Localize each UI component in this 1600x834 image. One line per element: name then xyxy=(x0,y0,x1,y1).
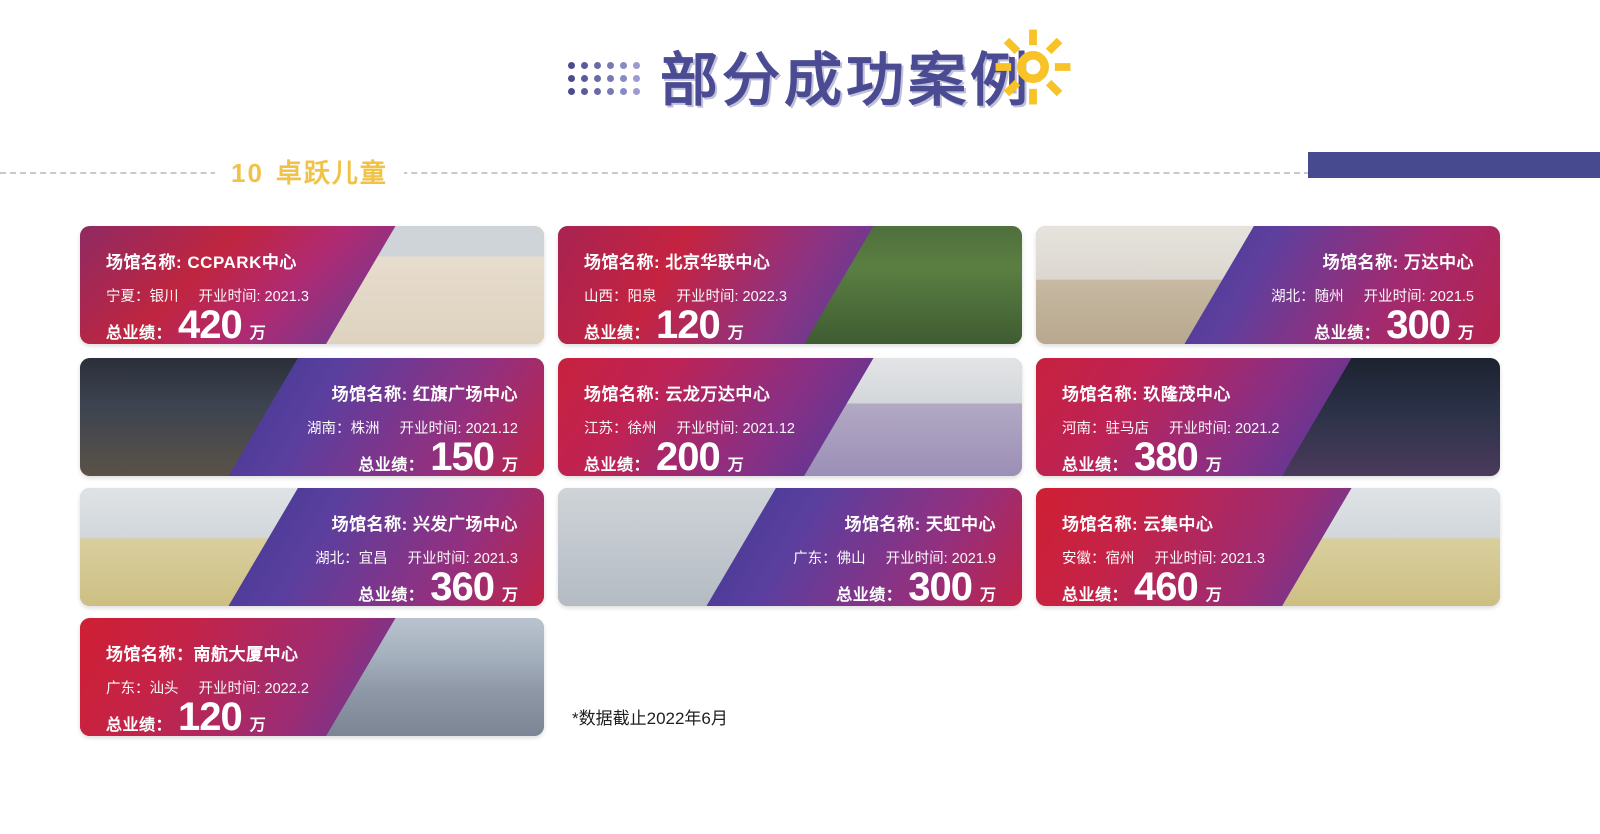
venue-location: 河南：驻马店 xyxy=(1062,421,1149,437)
venue-location: 宁夏：银川 xyxy=(106,289,179,305)
venue-location: 湖北：宜昌 xyxy=(315,551,388,567)
performance-label: 总业绩： xyxy=(106,319,172,343)
venue-open-date: 开业时间: 2021.3 xyxy=(199,289,309,305)
venue-name: 场馆名称: CCPARK中心 xyxy=(106,248,297,273)
performance-value: 200 xyxy=(656,438,720,476)
performance-unit: 万 xyxy=(250,319,266,343)
venue-meta: 湖北：宜昌开业时间: 2021.3 xyxy=(315,547,518,568)
performance-label: 总业绩： xyxy=(358,451,424,475)
performance-row: 总业绩： 120 万 xyxy=(584,306,744,344)
venue-location: 广东：汕头 xyxy=(106,681,179,697)
performance-value: 360 xyxy=(430,568,494,606)
venue-open-date: 开业时间: 2021.12 xyxy=(677,421,795,437)
performance-row: 总业绩： 380 万 xyxy=(1062,438,1222,476)
venue-open-date: 开业时间: 2022.2 xyxy=(199,681,309,697)
performance-unit: 万 xyxy=(250,711,266,735)
performance-value: 380 xyxy=(1134,438,1198,476)
venue-open-date: 开业时间: 2022.3 xyxy=(677,289,787,305)
venue-location: 安徽：宿州 xyxy=(1062,551,1135,567)
venue-meta: 湖南：株洲开业时间: 2021.12 xyxy=(307,417,518,438)
performance-value: 120 xyxy=(656,306,720,344)
case-card[interactable]: 场馆名称: 北京华联中心 山西：阳泉开业时间: 2022.3 总业绩： 120 … xyxy=(558,226,1022,344)
performance-row: 总业绩： 460 万 xyxy=(1062,568,1222,606)
performance-label: 总业绩： xyxy=(1062,581,1128,605)
performance-row: 总业绩： 420 万 xyxy=(106,306,266,344)
venue-location: 湖北：随州 xyxy=(1271,289,1344,305)
venue-location: 湖南：株洲 xyxy=(307,421,380,437)
venue-meta: 河南：驻马店开业时间: 2021.2 xyxy=(1062,417,1279,438)
venue-open-date: 开业时间: 2021.5 xyxy=(1364,289,1474,305)
venue-name: 场馆名称: 天虹中心 xyxy=(845,510,996,535)
venue-name: 场馆名称: 云龙万达中心 xyxy=(584,380,770,405)
venue-name: 场馆名称：南航大厦中心 xyxy=(106,640,299,665)
case-card[interactable]: 场馆名称: 云集中心 安徽：宿州开业时间: 2021.3 总业绩： 460 万 xyxy=(1036,488,1500,606)
venue-meta: 湖北：随州开业时间: 2021.5 xyxy=(1271,285,1474,306)
performance-label: 总业绩： xyxy=(584,319,650,343)
case-card[interactable]: 场馆名称: CCPARK中心 宁夏：银川开业时间: 2021.3 总业绩： 42… xyxy=(80,226,544,344)
performance-value: 460 xyxy=(1134,568,1198,606)
card-text-block: 场馆名称: 云集中心 安徽：宿州开业时间: 2021.3 总业绩： 460 万 xyxy=(1036,488,1305,606)
venue-meta: 安徽：宿州开业时间: 2021.3 xyxy=(1062,547,1265,568)
performance-unit: 万 xyxy=(728,319,744,343)
venue-location: 山西：阳泉 xyxy=(584,289,657,305)
performance-unit: 万 xyxy=(1206,451,1222,475)
venue-meta: 广东：汕头开业时间: 2022.2 xyxy=(106,677,309,698)
performance-row: 总业绩： 360 万 xyxy=(358,568,518,606)
venue-open-date: 开业时间: 2021.3 xyxy=(408,551,518,567)
performance-label: 总业绩： xyxy=(358,581,424,605)
venue-name: 场馆名称: 兴发广场中心 xyxy=(332,510,518,535)
performance-value: 150 xyxy=(430,438,494,476)
case-card-grid: 场馆名称: CCPARK中心 宁夏：银川开业时间: 2021.3 总业绩： 42… xyxy=(0,0,1600,834)
performance-unit: 万 xyxy=(980,581,996,605)
performance-label: 总业绩： xyxy=(1314,319,1380,343)
performance-row: 总业绩： 150 万 xyxy=(358,438,518,476)
footnote: *数据截止2022年6月 xyxy=(572,704,728,729)
performance-row: 总业绩： 300 万 xyxy=(1314,306,1474,344)
performance-unit: 万 xyxy=(502,451,518,475)
venue-meta: 山西：阳泉开业时间: 2022.3 xyxy=(584,285,787,306)
case-card[interactable]: 场馆名称: 天虹中心 广东：佛山开业时间: 2021.9 总业绩： 300 万 xyxy=(558,488,1022,606)
card-text-block: 场馆名称: CCPARK中心 宁夏：银川开业时间: 2021.3 总业绩： 42… xyxy=(80,226,349,344)
venue-name: 场馆名称: 玖隆茂中心 xyxy=(1062,380,1231,405)
performance-unit: 万 xyxy=(728,451,744,475)
case-card[interactable]: 场馆名称: 兴发广场中心 湖北：宜昌开业时间: 2021.3 总业绩： 360 … xyxy=(80,488,544,606)
performance-label: 总业绩： xyxy=(1062,451,1128,475)
case-card[interactable]: 场馆名称: 云龙万达中心 江苏：徐州开业时间: 2021.12 总业绩： 200… xyxy=(558,358,1022,476)
card-text-block: 场馆名称: 北京华联中心 山西：阳泉开业时间: 2022.3 总业绩： 120 … xyxy=(558,226,827,344)
venue-open-date: 开业时间: 2021.12 xyxy=(400,421,518,437)
venue-meta: 宁夏：银川开业时间: 2021.3 xyxy=(106,285,309,306)
card-text-block: 场馆名称: 天虹中心 广东：佛山开业时间: 2021.9 总业绩： 300 万 xyxy=(753,488,1022,606)
card-text-block: 场馆名称：南航大厦中心 广东：汕头开业时间: 2022.2 总业绩： 120 万 xyxy=(80,618,349,736)
venue-meta: 江苏：徐州开业时间: 2021.12 xyxy=(584,417,795,438)
performance-value: 300 xyxy=(908,568,972,606)
venue-meta: 广东：佛山开业时间: 2021.9 xyxy=(793,547,996,568)
card-text-block: 场馆名称: 玖隆茂中心 河南：驻马店开业时间: 2021.2 总业绩： 380 … xyxy=(1036,358,1305,476)
card-text-block: 场馆名称: 红旗广场中心 湖南：株洲开业时间: 2021.12 总业绩： 150… xyxy=(275,358,544,476)
card-text-block: 场馆名称: 云龙万达中心 江苏：徐州开业时间: 2021.12 总业绩： 200… xyxy=(558,358,827,476)
venue-name: 场馆名称: 红旗广场中心 xyxy=(332,380,518,405)
venue-name: 场馆名称: 万达中心 xyxy=(1323,248,1474,273)
performance-value: 120 xyxy=(178,698,242,736)
performance-unit: 万 xyxy=(1458,319,1474,343)
venue-name: 场馆名称: 云集中心 xyxy=(1062,510,1213,535)
slide-root: 部分成功案例 10卓跃儿童 xyxy=(0,0,1600,834)
performance-unit: 万 xyxy=(1206,581,1222,605)
performance-row: 总业绩： 300 万 xyxy=(836,568,996,606)
card-text-block: 场馆名称: 兴发广场中心 湖北：宜昌开业时间: 2021.3 总业绩： 360 … xyxy=(275,488,544,606)
venue-location: 广东：佛山 xyxy=(793,551,866,567)
performance-row: 总业绩： 120 万 xyxy=(106,698,266,736)
performance-label: 总业绩： xyxy=(836,581,902,605)
case-card[interactable]: 场馆名称: 万达中心 湖北：随州开业时间: 2021.5 总业绩： 300 万 xyxy=(1036,226,1500,344)
performance-unit: 万 xyxy=(502,581,518,605)
case-card[interactable]: 场馆名称: 红旗广场中心 湖南：株洲开业时间: 2021.12 总业绩： 150… xyxy=(80,358,544,476)
case-card[interactable]: 场馆名称: 玖隆茂中心 河南：驻马店开业时间: 2021.2 总业绩： 380 … xyxy=(1036,358,1500,476)
venue-open-date: 开业时间: 2021.2 xyxy=(1169,421,1279,437)
performance-value: 300 xyxy=(1386,306,1450,344)
performance-value: 420 xyxy=(178,306,242,344)
venue-name: 场馆名称: 北京华联中心 xyxy=(584,248,770,273)
performance-row: 总业绩： 200 万 xyxy=(584,438,744,476)
performance-label: 总业绩： xyxy=(106,711,172,735)
venue-location: 江苏：徐州 xyxy=(584,421,657,437)
venue-open-date: 开业时间: 2021.3 xyxy=(1155,551,1265,567)
card-text-block: 场馆名称: 万达中心 湖北：随州开业时间: 2021.5 总业绩： 300 万 xyxy=(1231,226,1500,344)
venue-open-date: 开业时间: 2021.9 xyxy=(886,551,996,567)
performance-label: 总业绩： xyxy=(584,451,650,475)
case-card[interactable]: 场馆名称：南航大厦中心 广东：汕头开业时间: 2022.2 总业绩： 120 万 xyxy=(80,618,544,736)
